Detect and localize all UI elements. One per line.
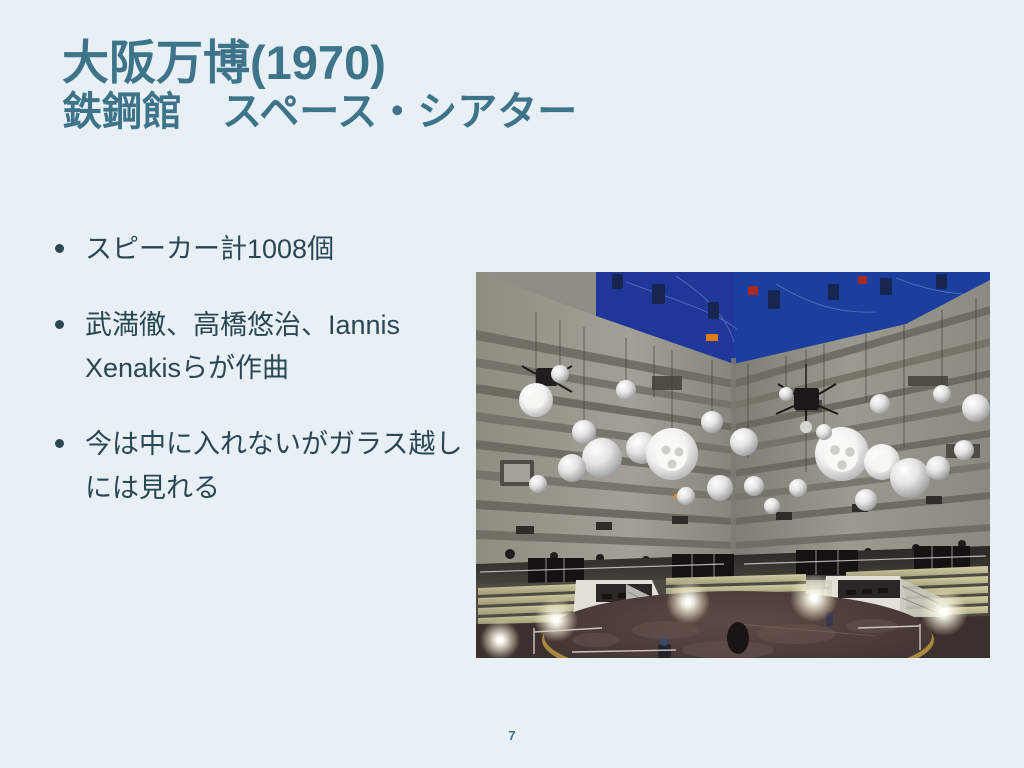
page-subtitle: 鉄鋼館 スペース・シアター: [62, 89, 882, 136]
bullet-dot-icon: [55, 439, 64, 448]
bullet-list: スピーカー計1008個 武満徹、高橋悠治、Iannis Xenakisらが作曲 …: [55, 228, 475, 511]
space-theater-photo: [476, 272, 990, 658]
slide-title-block: 大阪万博(1970) 鉄鋼館 スペース・シアター: [62, 38, 882, 136]
bullet-text: 武満徹、高橋悠治、Iannis Xenakisらが作曲: [85, 304, 475, 391]
bullet-dot-icon: [55, 244, 64, 253]
page-number: 7: [0, 728, 1024, 743]
photo-illustration: [476, 272, 990, 658]
list-item: 武満徹、高橋悠治、Iannis Xenakisらが作曲: [55, 304, 475, 391]
slide-canvas: 大阪万博(1970) 鉄鋼館 スペース・シアター スピーカー計1008個 武満徹…: [0, 0, 1024, 768]
bullet-text: 今は中に入れないがガラス越しには見れる: [85, 423, 475, 510]
page-title: 大阪万博(1970): [62, 38, 882, 89]
bullet-dot-icon: [55, 320, 64, 329]
list-item: スピーカー計1008個: [55, 228, 475, 272]
list-item: 今は中に入れないがガラス越しには見れる: [55, 423, 475, 510]
bullet-text: スピーカー計1008個: [85, 228, 475, 272]
